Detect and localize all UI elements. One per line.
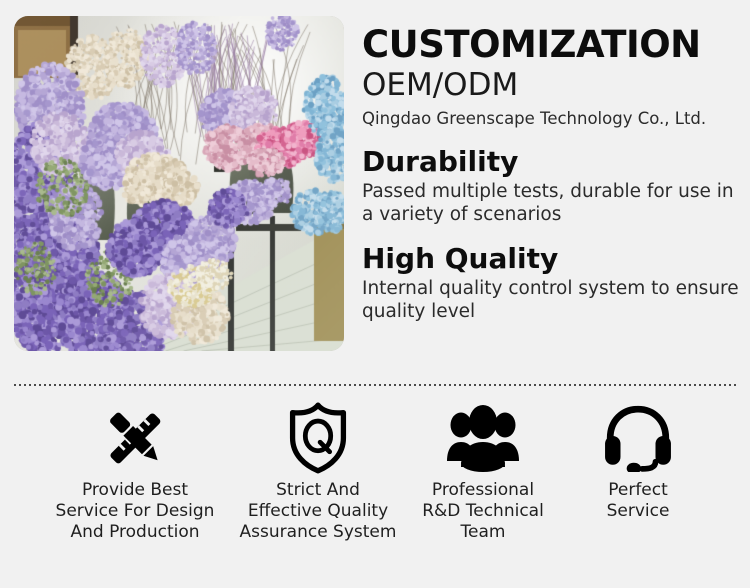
product-photo [14, 16, 344, 351]
feature-description: Internal quality control system to ensur… [362, 277, 742, 324]
top-section: CUSTOMIZATION OEM/ODM Qingdao Greenscape… [0, 0, 750, 366]
service-highlights-row: Provide Best Service For Design And Prod… [0, 400, 750, 550]
team-group-icon [445, 400, 521, 476]
headset-icon [600, 400, 676, 476]
service-item: Professional R&D Technical Team [403, 400, 563, 543]
shield-q-icon [280, 400, 356, 476]
ruler-pencil-icon [97, 400, 173, 476]
service-caption: Provide Best Service For Design And Prod… [56, 480, 215, 543]
feature-durability: Durability Passed multiple tests, durabl… [362, 146, 742, 226]
service-caption: Professional R&D Technical Team [422, 480, 544, 543]
service-item: Strict And Effective Quality Assurance S… [233, 400, 403, 543]
section-divider [14, 384, 736, 386]
flower-showroom-image [14, 16, 344, 351]
headline-column: CUSTOMIZATION OEM/ODM Qingdao Greenscape… [362, 16, 742, 323]
service-item: Perfect Service [563, 400, 713, 522]
company-name: Qingdao Greenscape Technology Co., Ltd. [362, 109, 742, 129]
feature-title: Durability [362, 146, 742, 177]
feature-title: High Quality [362, 243, 742, 274]
feature-description: Passed multiple tests, durable for use i… [362, 180, 742, 227]
page-title: CUSTOMIZATION [362, 26, 742, 65]
promo-banner: CUSTOMIZATION OEM/ODM Qingdao Greenscape… [0, 0, 750, 588]
page-subtitle: OEM/ODM [362, 68, 742, 104]
service-caption: Perfect Service [607, 480, 670, 522]
service-caption: Strict And Effective Quality Assurance S… [240, 480, 397, 543]
feature-high-quality: High Quality Internal quality control sy… [362, 243, 742, 323]
service-item: Provide Best Service For Design And Prod… [37, 400, 233, 543]
